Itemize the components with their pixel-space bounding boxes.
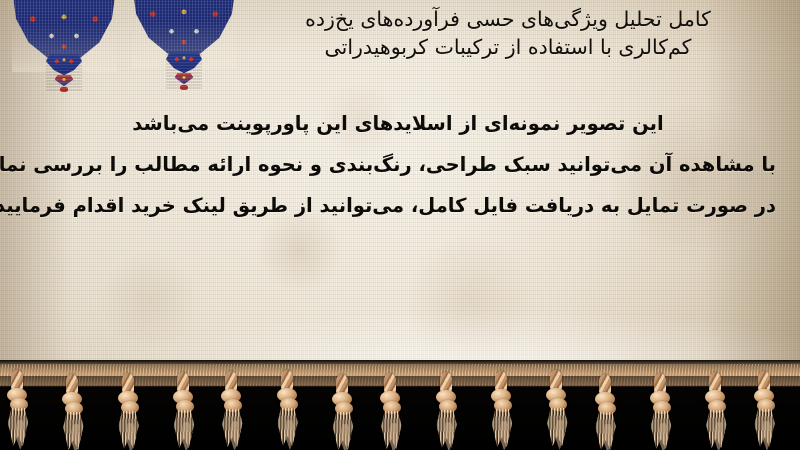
slide-title: کامل تحلیل ویژگی‌های حسی فرآورده‌های یخ‌… [238, 6, 778, 62]
pendant-pixel-weave [166, 50, 202, 90]
slide-canvas: کامل تحلیل ویژگی‌های حسی فرآورده‌های یخ‌… [0, 0, 800, 450]
fringe-knot [330, 374, 356, 450]
fringe-knot [219, 371, 245, 450]
slide-body-line-3: در صورت تمایل به دریافت فایل کامل، می‌تو… [20, 194, 776, 217]
fringe-knot [60, 374, 86, 450]
slide-body-line-2: با مشاهده آن می‌توانید سبک طراحی، رنگ‌بن… [20, 153, 776, 176]
fringe-knot [752, 371, 778, 450]
fringe-knot [544, 370, 570, 450]
carpet-fringe [0, 360, 800, 450]
fringe-knot [434, 372, 460, 450]
fringe-knot [378, 373, 404, 450]
fringe-knot [593, 374, 619, 450]
slide-title-line-2: کم‌کالری با استفاده از ترکیبات کربوهیدرا… [238, 34, 778, 62]
fringe-knot [703, 372, 729, 450]
fringe-knot [648, 373, 674, 450]
persian-pendant-left [46, 52, 82, 92]
fringe-knot [275, 370, 301, 450]
slide-title-line-1: کامل تحلیل ویژگی‌های حسی فرآورده‌های یخ‌… [238, 6, 778, 34]
pendant-pixel-weave [46, 52, 82, 92]
slide-body-line-1: این تصویر نمونه‌ای از اسلایدهای این پاور… [20, 112, 776, 135]
fringe-knot [5, 370, 31, 450]
persian-pendant-right [166, 50, 202, 90]
slide-body: این تصویر نمونه‌ای از اسلایدهای این پاور… [20, 112, 776, 235]
fringe-knot [171, 372, 197, 450]
fringe-knot [489, 371, 515, 450]
fringe-knot [116, 373, 142, 450]
